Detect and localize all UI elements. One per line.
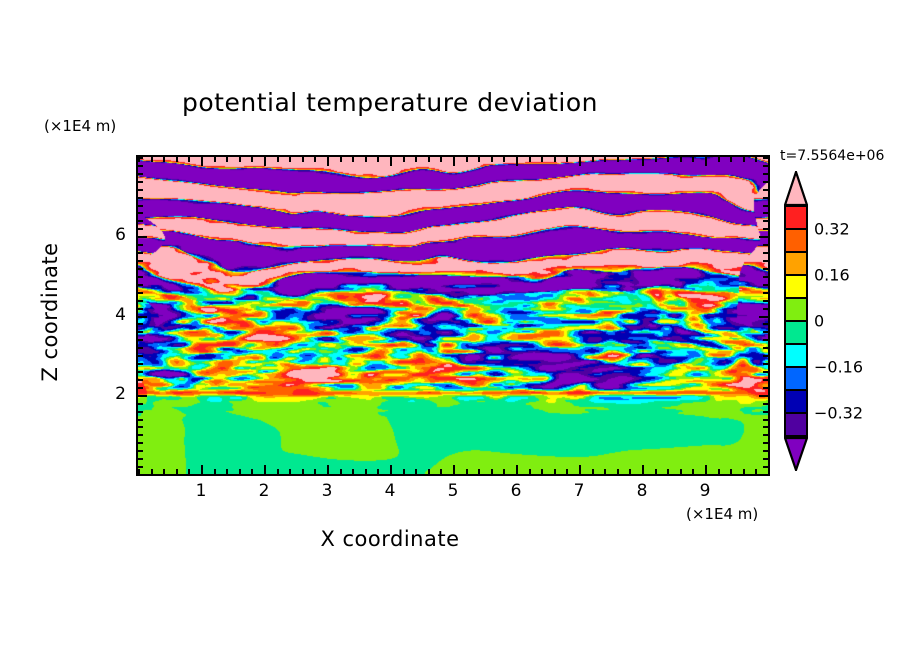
colorbar-band [784, 366, 808, 391]
colorbar-tick-label: 0 [814, 312, 824, 331]
colorbar-tick-label: −0.16 [814, 358, 863, 377]
colorbar-band [784, 228, 808, 253]
x-tick-label: 8 [622, 481, 662, 501]
x-tick-label: 4 [370, 481, 410, 501]
contour-plot-area [136, 155, 770, 476]
y-tick-label: 4 [96, 305, 126, 325]
y-axis-title: Z coordinate [38, 202, 62, 422]
colorbar-band [784, 251, 808, 276]
colorbar-tick-label: 0.32 [814, 220, 850, 239]
figure-canvas: potential temperature deviation (×1E4 m)… [0, 0, 904, 654]
colorbar-band [784, 274, 808, 299]
x-tick-label: 9 [685, 481, 725, 501]
colorbar-band [784, 389, 808, 414]
contour-field [138, 157, 768, 474]
x-tick-label: 3 [307, 481, 347, 501]
x-tick-label: 1 [181, 481, 221, 501]
colorbar-band [784, 412, 808, 437]
x-tick-label: 2 [244, 481, 284, 501]
colorbar-over-arrow [784, 171, 808, 205]
x-axis-title: X coordinate [0, 527, 780, 551]
colorbar-band [784, 205, 808, 230]
x-tick-label: 7 [559, 481, 599, 501]
colorbar: 0.320.160−0.16−0.32 [784, 205, 808, 483]
x-tick-label: 5 [433, 481, 473, 501]
x-tick-label: 6 [496, 481, 536, 501]
colorbar-tick-label: 0.16 [814, 266, 850, 285]
colorbar-under-arrow [784, 437, 808, 471]
y-tick-label: 2 [96, 384, 126, 404]
colorbar-tick-label: −0.32 [814, 404, 863, 423]
timestamp-label: t=7.5564e+06 [780, 148, 884, 164]
page-title: potential temperature deviation [0, 88, 780, 117]
colorbar-band [784, 320, 808, 345]
x-axis-unit-label: (×1E4 m) [686, 505, 758, 523]
colorbar-band [784, 343, 808, 368]
z-axis-unit-label: (×1E4 m) [44, 117, 116, 135]
colorbar-band [784, 297, 808, 322]
y-tick-label: 6 [96, 225, 126, 245]
